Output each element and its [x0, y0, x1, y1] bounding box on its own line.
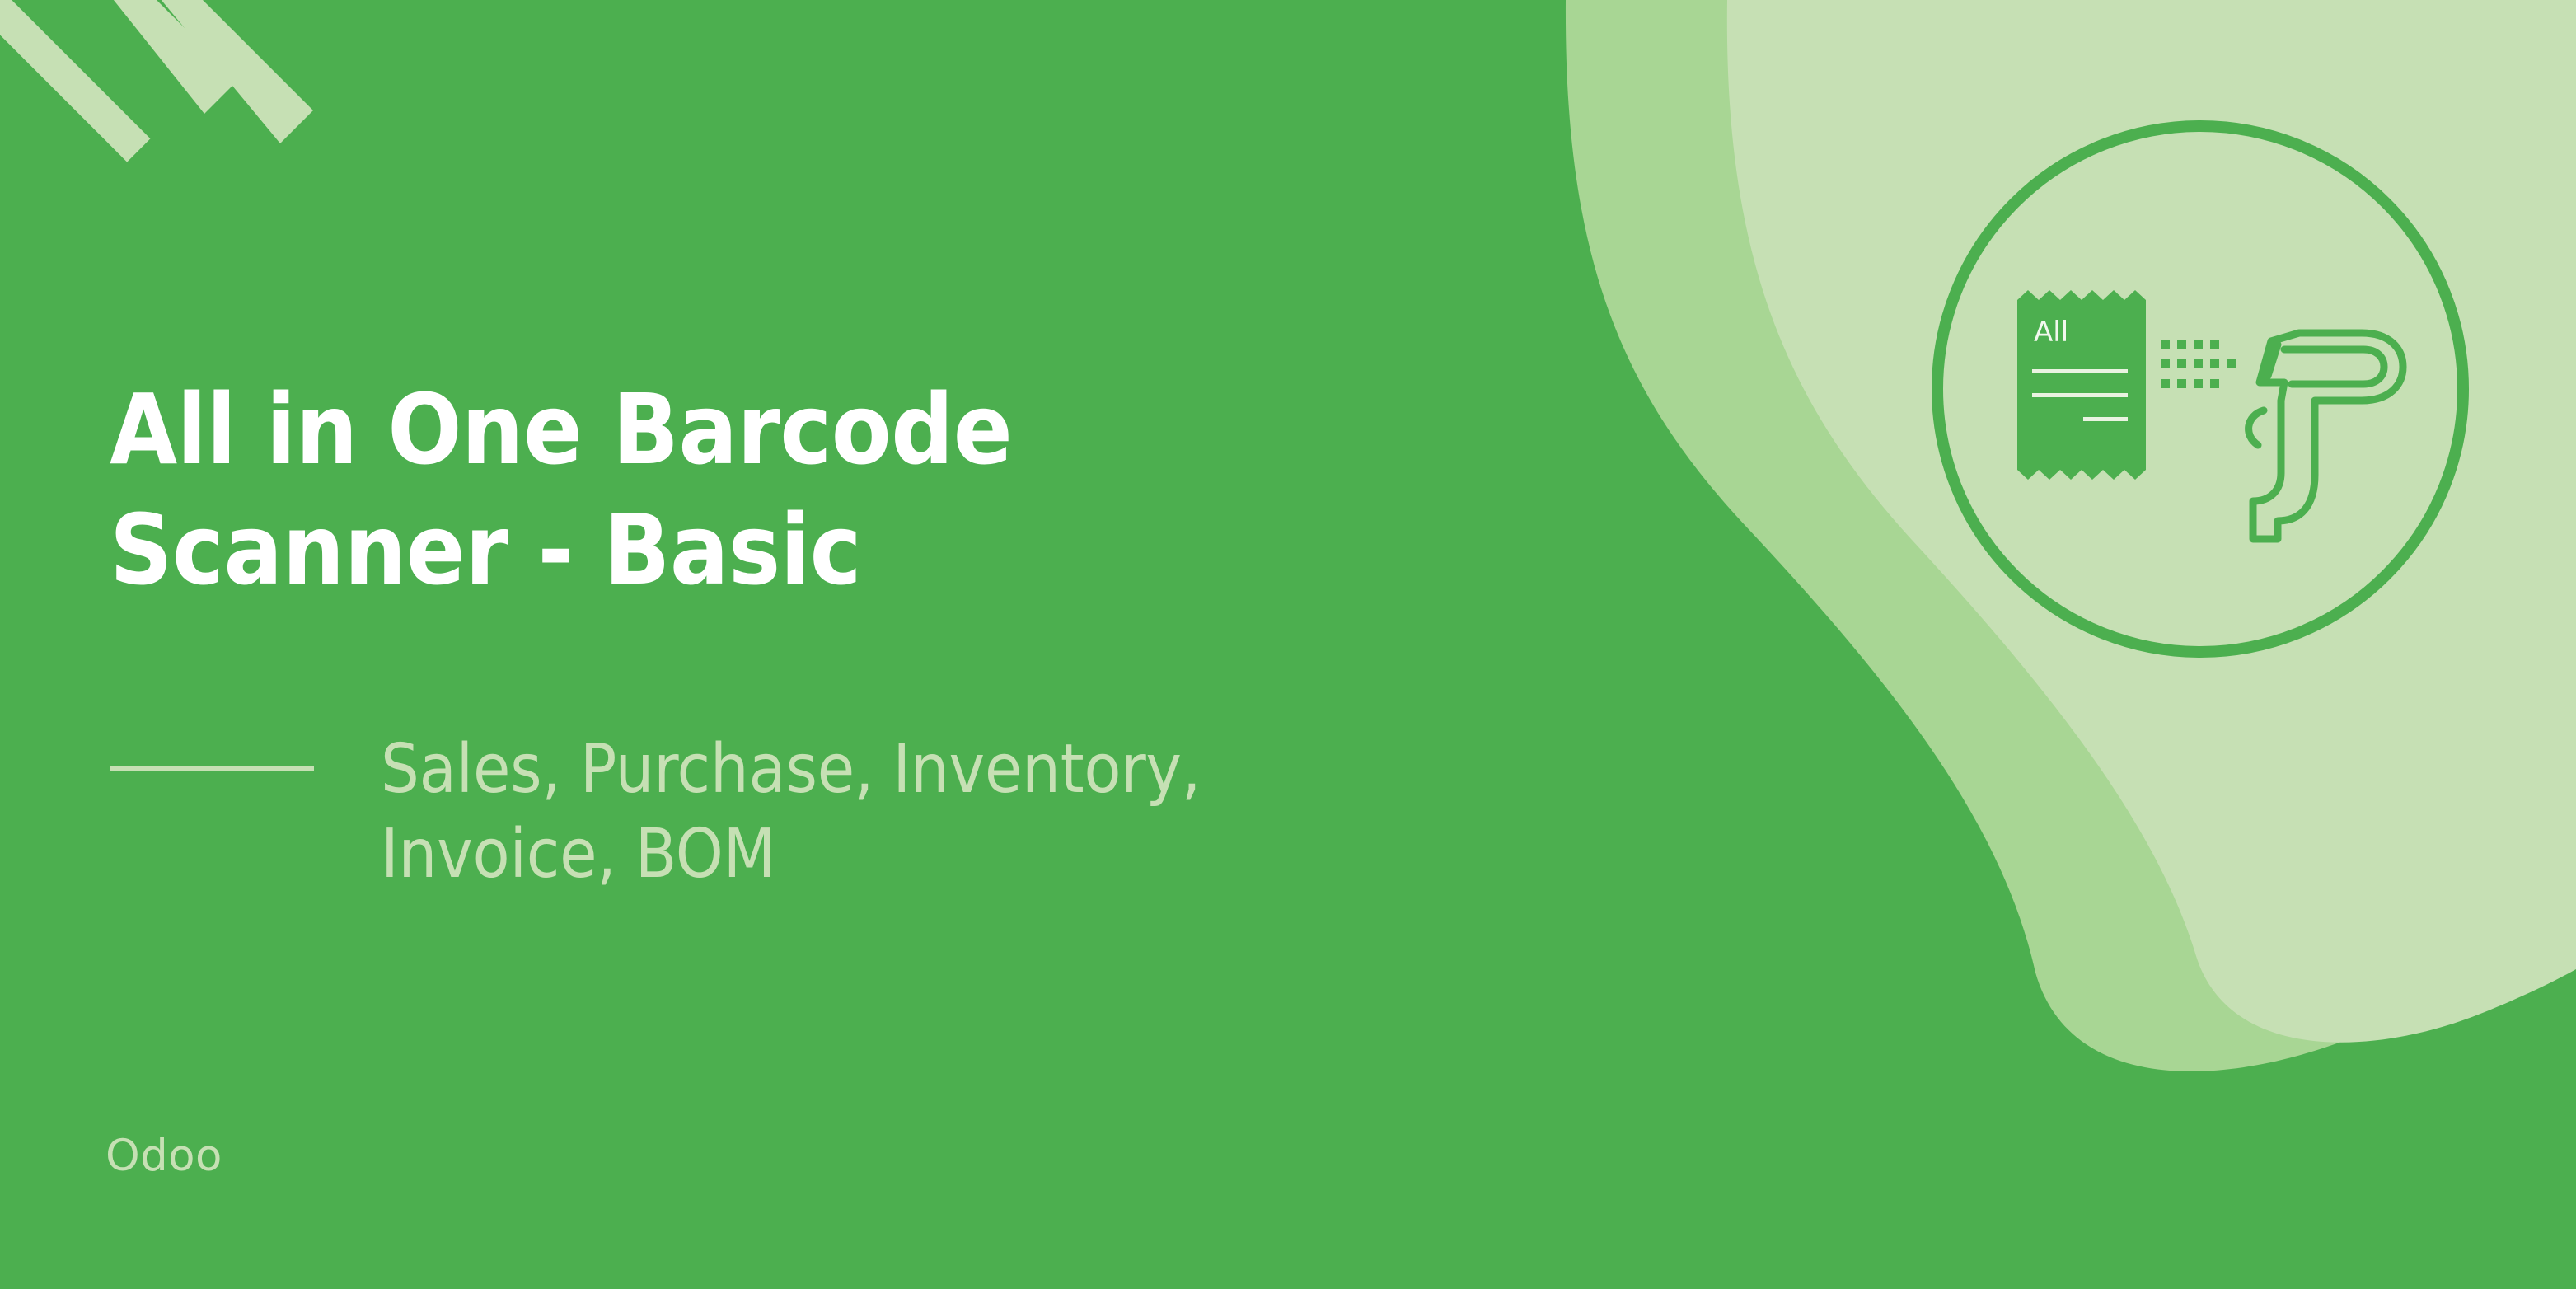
receipt-icon: All [2017, 290, 2146, 480]
icon-medallion: All [1932, 120, 2469, 658]
text-column: All in One Barcode Scanner - Basic Sales… [0, 0, 1813, 1289]
icon-medallion-svg: All [1932, 120, 2469, 658]
scanner-trigger [2249, 410, 2264, 445]
circle-outline-icon [1937, 126, 2463, 652]
scan-beam-dots-icon [2161, 340, 2236, 388]
promo-banner: All in One Barcode Scanner - Basic Sales… [0, 0, 2576, 1289]
page-subtitle: Sales, Purchase, Inventory, Invoice, BOM [381, 727, 1717, 898]
receipt-line-1 [2032, 369, 2128, 373]
brand-label: Odoo [105, 1131, 222, 1181]
receipt-line-2 [2032, 393, 2128, 397]
barcode-scanner-gun-icon [2249, 333, 2403, 539]
subtitle-rule-decoration [110, 766, 314, 771]
subtitle-row: Sales, Purchase, Inventory, Invoice, BOM [110, 727, 1717, 898]
scanner-window-line [2284, 349, 2384, 384]
receipt-label: All [2034, 316, 2068, 349]
receipt-line-3 [2083, 417, 2128, 421]
page-title: All in One Barcode Scanner - Basic [110, 369, 1510, 611]
